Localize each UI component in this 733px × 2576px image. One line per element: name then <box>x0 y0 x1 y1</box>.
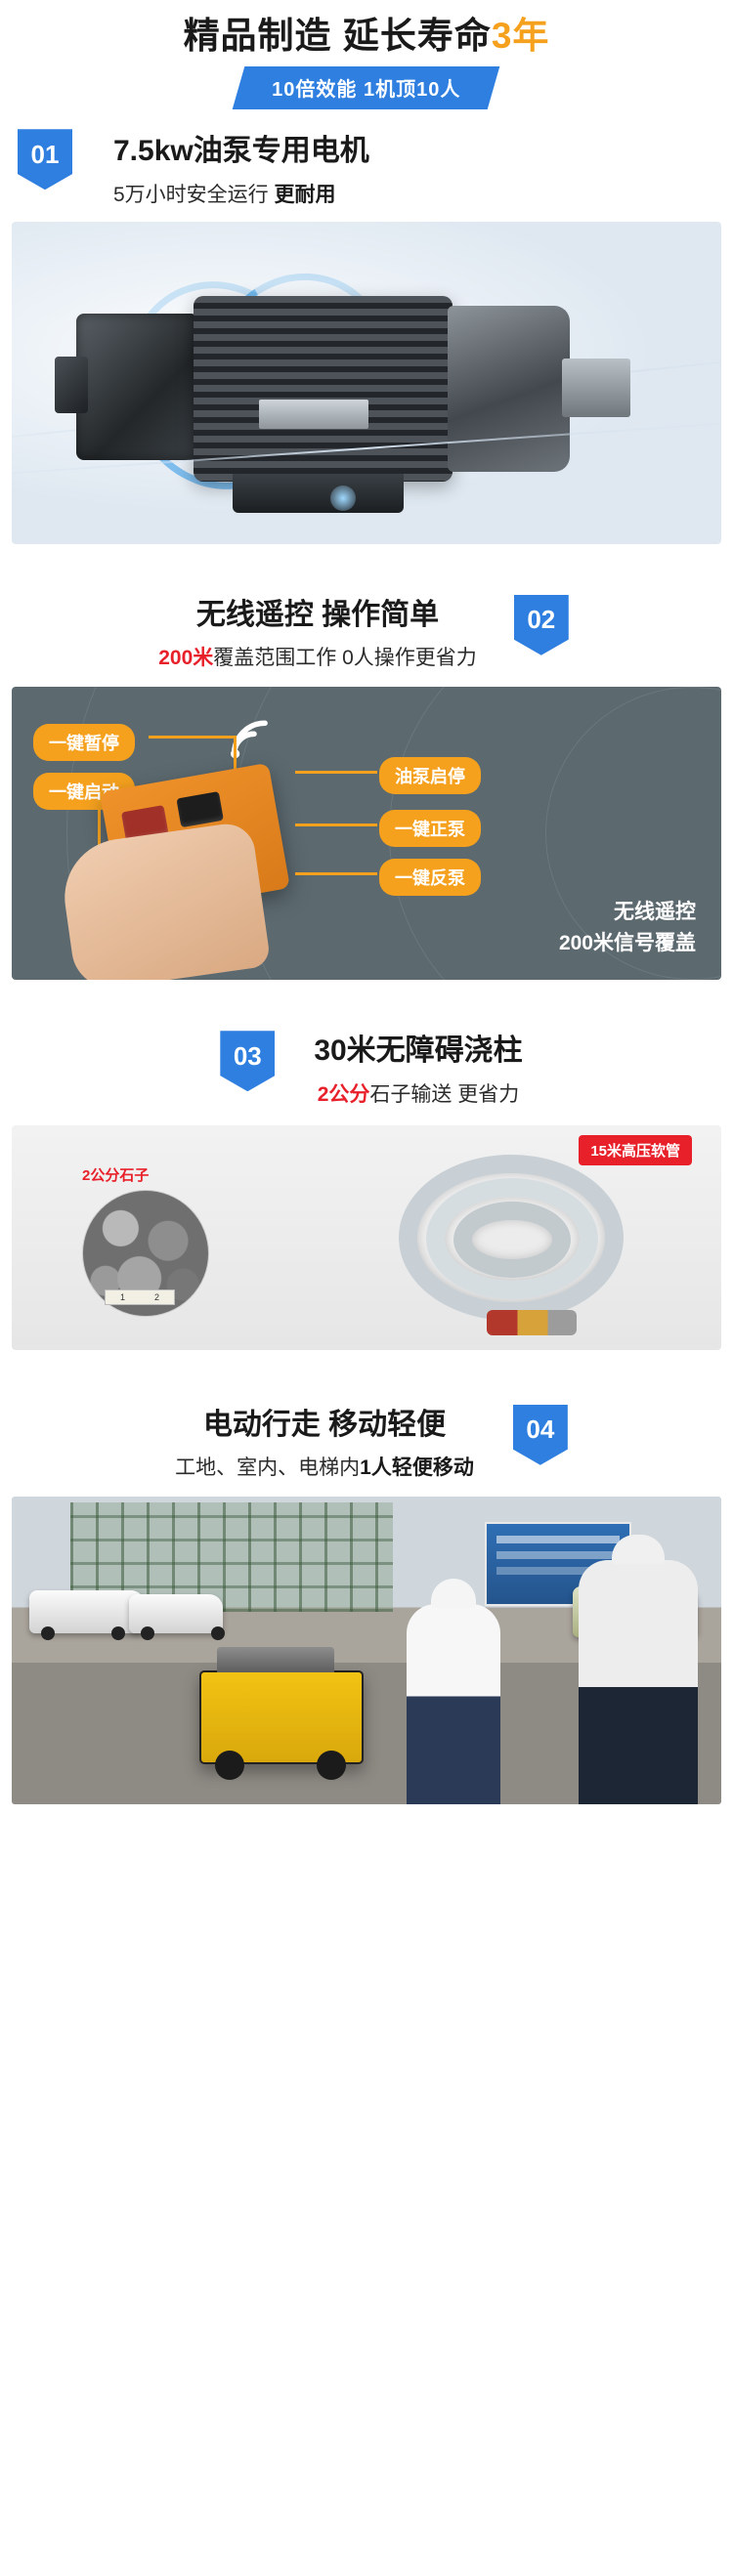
section-01-sub-normal: 5万小时安全运行 <box>113 184 275 206</box>
section-02-header: 无线遥控 操作简单 200米覆盖范围工作 0人操作更省力 02 <box>0 595 733 672</box>
motor-nameplate <box>259 400 368 429</box>
parked-van <box>29 1590 145 1633</box>
section-04-sub-strong: 1人轻便移动 <box>360 1457 474 1479</box>
callout-forward-pump: 一键正泵 <box>379 810 481 847</box>
section-02-caption-line1: 无线遥控 <box>559 897 696 928</box>
remote-button-pump-toggle <box>176 791 224 827</box>
section-03-title: 30米无障碍浇柱 <box>314 1033 522 1070</box>
motor-gearbox <box>76 314 198 460</box>
section-03-text: 30米无障碍浇柱 2公分石子输送 更省力 <box>314 1031 522 1108</box>
motor-illustration <box>68 290 655 486</box>
callout-pause: 一键暂停 <box>33 724 135 761</box>
helmet-icon <box>612 1535 665 1564</box>
page-title-accent: 3年 <box>492 16 550 56</box>
section-03: 03 30米无障碍浇柱 2公分石子输送 更省力 2公分石子 1 2 15米高压软… <box>0 1031 733 1350</box>
ruler-mark-2: 2 <box>154 1292 159 1302</box>
section-03-badge: 03 <box>220 1031 275 1091</box>
section-02-subtitle: 200米覆盖范围工作 0人操作更省力 <box>158 642 477 671</box>
ruler-scale: 1 2 <box>105 1289 175 1305</box>
leader-line <box>295 872 377 875</box>
section-04-sub-normal: 工地、室内、电梯内 <box>175 1457 360 1479</box>
leader-line <box>295 823 377 826</box>
section-02-title: 无线遥控 操作简单 <box>158 597 477 634</box>
parked-car <box>129 1594 223 1633</box>
section-04-image <box>12 1497 721 1804</box>
motor-end-cap <box>448 306 570 472</box>
section-02-sub-normal: 覆盖范围工作 0人操作更省力 <box>213 647 477 669</box>
section-03-sub-normal: 石子输送 更省力 <box>369 1083 519 1106</box>
page-header: 精品制造 延长寿命3年 10倍效能 1机顶10人 <box>0 0 733 109</box>
helmet-icon <box>431 1579 476 1608</box>
hose-illustration <box>369 1143 692 1333</box>
hose-coupler <box>487 1310 577 1335</box>
section-03-sub-red: 2公分 <box>318 1083 370 1106</box>
leader-line <box>149 736 237 739</box>
ruler-mark-1: 1 <box>120 1292 125 1302</box>
section-01-title: 7.5kw油泵专用电机 <box>113 133 369 170</box>
header-banner-label: 10倍效能 1机顶10人 <box>273 73 461 102</box>
section-02: 无线遥控 操作简单 200米覆盖范围工作 0人操作更省力 02 一键暂停 一键启… <box>0 595 733 981</box>
section-01-text: 7.5kw油泵专用电机 5万小时安全运行 更耐用 <box>113 129 369 208</box>
header-banner-wrap: 10倍效能 1机顶10人 <box>0 66 733 109</box>
section-02-sub-red: 200米 <box>158 647 213 669</box>
section-02-caption-line2: 200米信号覆盖 <box>559 928 696 959</box>
section-01-image <box>12 222 721 544</box>
motor-base <box>233 474 404 513</box>
section-02-caption: 无线遥控 200米信号覆盖 <box>559 897 696 958</box>
section-03-subtitle: 2公分石子输送 更省力 <box>314 1078 522 1108</box>
section-02-badge: 02 <box>514 595 569 655</box>
section-01-sub-strong: 更耐用 <box>275 184 336 206</box>
gravel-label: 2公分石子 <box>82 1164 149 1185</box>
callout-reverse-pump: 一键反泵 <box>379 859 481 896</box>
section-04-subtitle: 工地、室内、电梯内1人轻便移动 <box>175 1452 474 1481</box>
section-04: 电动行走 移动轻便 工地、室内、电梯内1人轻便移动 04 <box>0 1405 733 1805</box>
section-03-image: 2公分石子 1 2 15米高压软管 <box>12 1125 721 1350</box>
section-04-text: 电动行走 移动轻便 工地、室内、电梯内1人轻便移动 <box>175 1405 474 1482</box>
worker-left <box>407 1604 500 1804</box>
motor-glow-icon <box>330 486 356 511</box>
leader-line <box>295 771 377 774</box>
section-01: 01 7.5kw油泵专用电机 5万小时安全运行 更耐用 <box>0 129 733 544</box>
page-title: 精品制造 延长寿命3年 <box>0 14 733 59</box>
section-01-subtitle: 5万小时安全运行 更耐用 <box>113 179 369 208</box>
section-01-header: 01 7.5kw油泵专用电机 5万小时安全运行 更耐用 <box>0 129 733 208</box>
section-02-text: 无线遥控 操作简单 200米覆盖范围工作 0人操作更省力 <box>158 595 477 672</box>
motor-cooling-fins <box>194 296 453 482</box>
page-title-main: 精品制造 延长寿命 <box>184 16 492 56</box>
section-04-title: 电动行走 移动轻便 <box>175 1407 474 1444</box>
worker-right <box>579 1560 698 1804</box>
concrete-pump-machine <box>199 1670 364 1764</box>
section-04-badge: 04 <box>513 1405 568 1465</box>
section-04-header: 电动行走 移动轻便 工地、室内、电梯内1人轻便移动 04 <box>0 1405 733 1482</box>
motor-shaft <box>562 359 630 417</box>
hose-coil-inner <box>453 1202 571 1278</box>
section-01-badge: 01 <box>18 129 72 190</box>
header-banner: 10倍效能 1机顶10人 <box>233 66 500 109</box>
section-02-image: 一键暂停 一键启动 油泵启停 一键正泵 一键反泵 无线遥控 200米信号覆盖 <box>12 687 721 980</box>
section-03-header: 03 30米无障碍浇柱 2公分石子输送 更省力 <box>0 1031 733 1108</box>
callout-pump-toggle: 油泵启停 <box>379 757 481 794</box>
